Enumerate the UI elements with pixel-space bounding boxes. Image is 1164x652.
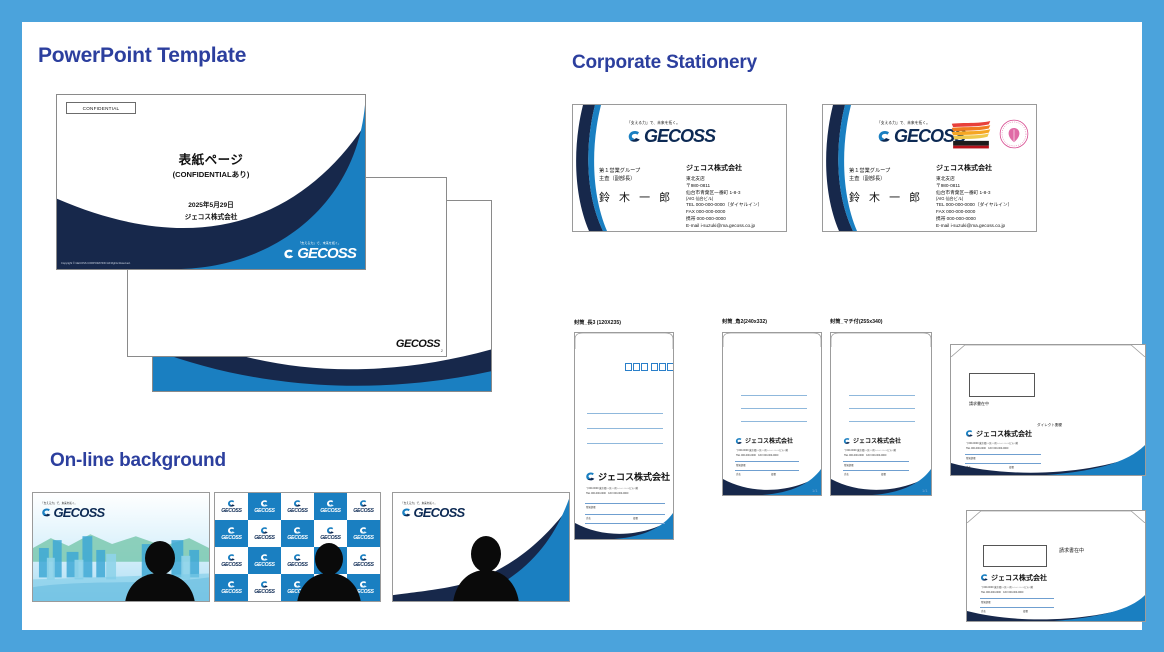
envelope-field-name: 氏名 xyxy=(844,472,849,476)
envelope-label-naga3: 封筒_長3 (120X235) xyxy=(574,319,621,326)
card-mobile: 携帯 000-000-0000 xyxy=(936,216,1012,223)
card-brand-logo: 「支える力」で、未来を拓く。 GECOSS xyxy=(627,121,715,145)
envelope-brand-logo: ジェコス株式会社 xyxy=(965,429,1032,438)
background-wave-white[interactable]: 「支える力」で、未来を拓く。 GECOSS xyxy=(392,492,570,602)
envelope-page-mark: 1/1 xyxy=(812,488,818,493)
envelope-label-machituki: 封筒_マチ付(255x340) xyxy=(830,318,882,325)
envelope-company: ジェコス株式会社 xyxy=(991,575,1047,582)
envelope-address-line1: 〒000-0000 東京都○○区○○町○-○-○ ○○○○ビル○階 xyxy=(844,449,896,453)
gecoss-swoosh-icon xyxy=(227,553,236,562)
logo-tile: GECOSS xyxy=(248,520,281,547)
brand-wordmark: GECOSS xyxy=(320,509,340,514)
slide-logo-wordmark: GECOSS xyxy=(396,338,440,350)
gecoss-swoosh-icon xyxy=(41,507,52,518)
envelope-field-post: 役職 xyxy=(1009,465,1014,469)
gecoss-swoosh-icon xyxy=(260,499,269,508)
envelope-address-line1: 〒000-0000 東京都○○区○○町○-○-○ ○○○○ビル○階 xyxy=(586,487,638,491)
nadeshiko-brand-badge xyxy=(999,119,1029,149)
envelope-invoice-note: 請求書在中 xyxy=(1059,547,1084,554)
envelope-folded-note: ダイレクト郵便 xyxy=(1037,423,1062,428)
brand-wordmark: GECOSS xyxy=(414,506,465,519)
gecoss-swoosh-icon xyxy=(401,507,412,518)
logo-tile: GECOSS xyxy=(215,574,248,601)
address-rule xyxy=(587,428,663,429)
envelope-flap xyxy=(723,333,821,347)
logo-tile: GECOSS xyxy=(215,493,248,520)
card-branch: 東北支店 xyxy=(936,176,1012,183)
gecoss-swoosh-icon xyxy=(980,573,989,582)
envelope-company: ジェコス株式会社 xyxy=(853,439,901,445)
brand-wordmark: GECOSS xyxy=(221,509,241,514)
envelope-address-line2: TEL 000-000-0000 FAX 000-000-0000 xyxy=(981,591,1023,595)
brand-mark: GECOSS xyxy=(401,506,464,519)
envelope-window-large[interactable]: 請求書在中 ダイレクト郵便 ジェコス株式会社 〒000-0000 東京都○○区○… xyxy=(950,344,1146,476)
brand-mark: GECOSS xyxy=(41,506,104,519)
certification-badges xyxy=(949,118,1029,150)
slide-company: ジェコス株式会社 xyxy=(57,211,365,221)
card-contact-block: ジェコス株式会社 東北支店 〒980-0811 仙台市青葉区一番町 1-8-3 … xyxy=(686,163,762,230)
address-rule xyxy=(587,443,663,444)
postal-code-boxes xyxy=(625,363,674,371)
person-silhouette xyxy=(121,541,199,602)
envelope-field-rule xyxy=(965,463,1041,464)
envelope-address-line1: 〒000-0000 東京都○○区○○町○-○-○ ○○○○ビル○階 xyxy=(736,449,788,453)
slide-title-block: 表紙ページ (CONFIDENTIALあり) xyxy=(57,149,365,180)
background-logo-tiles[interactable]: GECOSSGECOSSGECOSSGECOSSGECOSSGECOSSGECO… xyxy=(214,492,381,602)
gecoss-swoosh-icon xyxy=(227,580,236,589)
address-rule xyxy=(849,395,915,396)
card-fax: FAX 000-000-0000 xyxy=(686,209,762,216)
envelope-address-window xyxy=(969,373,1035,397)
gecoss-swoosh-icon xyxy=(326,499,335,508)
address-rule xyxy=(587,413,663,414)
person-silhouette xyxy=(293,543,365,602)
card-email: E-mail i-suzuki@ma.gecoss.co.jp xyxy=(686,223,762,230)
card-postcode: 〒980-0811 xyxy=(686,183,762,190)
envelope-field-dept: 所属部署 xyxy=(981,600,991,604)
envelope-flap xyxy=(967,511,1145,523)
envelope-brand-logo: ジェコス株式会社 xyxy=(843,437,901,445)
gecoss-swoosh-icon xyxy=(843,437,851,445)
card-postcode: 〒980-0811 xyxy=(936,183,1012,190)
envelope-field-rule xyxy=(735,461,799,462)
envelope-address-line2: TEL 000-000-0000 FAX 000-000-0000 xyxy=(586,492,628,496)
brand-wordmark: GECOSS xyxy=(221,536,241,541)
gecoss-swoosh-icon xyxy=(326,526,335,535)
envelope-address-window xyxy=(983,545,1047,567)
card-tel: TEL 000-000-0000（ダイヤルイン） xyxy=(686,202,762,209)
gecoss-swoosh-icon xyxy=(735,437,743,445)
gecoss-swoosh-icon xyxy=(359,526,368,535)
logo-tile: GECOSS xyxy=(281,493,314,520)
envelope-address-line2: TEL 000-000-0000 FAX 000-000-0000 xyxy=(844,454,886,458)
envelope-field-name: 氏名 xyxy=(586,516,591,520)
address-rule xyxy=(849,421,915,422)
brand-wordmark: GECOSS xyxy=(320,536,340,541)
business-card-plain[interactable]: 「支える力」で、未来を拓く。 GECOSS 第１営業グループ 主査（副部長） 鈴… xyxy=(572,104,787,232)
artboard: PowerPoint Template GECOSS 2 GECOSS 1 CO… xyxy=(22,22,1142,630)
envelope-field-name: 氏名 xyxy=(736,472,741,476)
gecoss-swoosh-icon xyxy=(293,499,302,508)
gecoss-swoosh-icon xyxy=(627,129,642,144)
slide-title-page[interactable]: CONFIDENTIAL 表紙ページ (CONFIDENTIALあり) 2025… xyxy=(56,94,366,270)
gecoss-swoosh-icon xyxy=(877,129,892,144)
section-title-powerpoint: PowerPoint Template xyxy=(38,44,246,68)
envelope-naga3[interactable]: ジェコス株式会社 〒000-0000 東京都○○区○○町○-○-○ ○○○○ビル… xyxy=(574,332,674,540)
card-fax: FAX 000-000-0000 xyxy=(936,209,1012,216)
card-branch: 東北支店 xyxy=(686,176,762,183)
brand-wordmark: GECOSS xyxy=(254,536,274,541)
envelope-brand-logo: ジェコス株式会社 xyxy=(585,471,670,482)
envelope-company: ジェコス株式会社 xyxy=(598,473,670,482)
envelope-label-kaku2: 封筒_角2(240x332) xyxy=(722,318,767,325)
envelope-field-name: 氏名 xyxy=(981,609,986,613)
page-frame: PowerPoint Template GECOSS 2 GECOSS 1 CO… xyxy=(0,0,1164,652)
person-silhouette xyxy=(449,535,523,602)
envelope-field-rule xyxy=(843,470,909,471)
section-title-online: On-line background xyxy=(50,450,226,472)
envelope-flap xyxy=(831,333,931,347)
card-department-line1: 第１営業グループ xyxy=(599,167,673,175)
slide-date: 2025年5月29日 xyxy=(57,199,365,209)
logo-tile: GECOSS xyxy=(314,493,347,520)
envelope-kaku2[interactable]: ジェコス株式会社 〒000-0000 東京都○○区○○町○-○-○ ○○○○ビル… xyxy=(722,332,822,496)
brand-mark: GECOSS xyxy=(283,246,356,261)
envelope-page-mark: 1/1 xyxy=(922,488,928,493)
brand-wordmark: GECOSS xyxy=(644,127,715,145)
logo-tile: GECOSS xyxy=(248,547,281,574)
envelope-field-rule xyxy=(965,454,1041,455)
envelope-company: ジェコス株式会社 xyxy=(745,439,793,445)
card-company: ジェコス株式会社 xyxy=(686,163,762,173)
envelope-address-line2: TEL 000-000-0000 FAX 000-000-0000 xyxy=(736,454,778,458)
gecoss-swoosh-icon xyxy=(283,248,295,260)
logo-tile: GECOSS xyxy=(248,493,281,520)
brand-wordmark: GECOSS xyxy=(353,536,373,541)
address-rule xyxy=(741,408,807,409)
brand-wordmark: GECOSS xyxy=(254,509,274,514)
slide-copyright: Copyright © GECOSS CORPORATION All Right… xyxy=(61,262,130,265)
envelope-field-dept: 所属部署 xyxy=(736,463,746,467)
brand-wordmark: GECOSS xyxy=(54,506,105,519)
slide-brand-logo: 「支える力」で、未来を拓く。 GECOSS xyxy=(283,240,356,261)
card-person-name: 鈴 木 一 郎 xyxy=(849,189,923,205)
envelope-field-rule xyxy=(585,514,665,515)
envelope-field-post: 役職 xyxy=(771,472,776,476)
envelope-field-rule xyxy=(843,461,909,462)
envelope-field-post: 役職 xyxy=(1023,609,1028,613)
envelope-field-rule xyxy=(735,470,799,471)
address-rule xyxy=(849,408,915,409)
envelope-flap xyxy=(951,345,1145,357)
envelope-field-rule xyxy=(585,503,665,504)
brand-wordmark: GECOSS xyxy=(353,509,373,514)
envelope-field-dept: 所属部署 xyxy=(586,505,596,509)
envelope-address-line1: 〒000-0000 東京都○○区○○町○-○-○ ○○○○ビル○階 xyxy=(966,442,1018,446)
card-mobile: 携帯 000-000-0000 xyxy=(686,216,762,223)
brand-wordmark: GECOSS xyxy=(287,509,307,514)
envelope-field-rule xyxy=(980,607,1054,608)
brand-wordmark: GECOSS xyxy=(254,590,274,595)
gecoss-swoosh-icon xyxy=(359,499,368,508)
brand-wordmark: GECOSS xyxy=(254,563,274,568)
envelope-flap xyxy=(575,333,673,349)
envelope-company: ジェコス株式会社 xyxy=(976,431,1032,438)
card-contact-block: ジェコス株式会社 東北支店 〒980-0811 仙台市青葉区一番町 1-8-3 … xyxy=(936,163,1012,230)
envelope-field-name: 氏名 xyxy=(966,465,971,469)
kenko-keiei-yuryo-houjin-badge xyxy=(949,118,993,150)
envelope-field-rule xyxy=(980,598,1054,599)
address-rule xyxy=(741,395,807,396)
card-department-line2: 主査（副部長） xyxy=(599,175,673,183)
envelope-field-rule xyxy=(585,523,665,524)
brand-wordmark: GECOSS xyxy=(297,246,356,261)
slide-title-line2: (CONFIDENTIALあり) xyxy=(57,169,365,180)
envelope-field-dept: 所属部署 xyxy=(844,463,854,467)
gecoss-swoosh-icon xyxy=(585,471,596,482)
brand-mark: GECOSS xyxy=(627,127,715,145)
logo-tile: GECOSS xyxy=(347,493,380,520)
address-rule xyxy=(741,421,807,422)
envelope-field-post: 役職 xyxy=(633,516,638,520)
gecoss-swoosh-icon xyxy=(227,499,236,508)
gecoss-swoosh-icon xyxy=(965,429,974,438)
card-person-block: 第１営業グループ 主査（副部長） 鈴 木 一 郎 xyxy=(599,167,673,205)
card-tel: TEL 000-000-0000（ダイヤルイン） xyxy=(936,202,1012,209)
card-email: E-mail i-suzuki@ma.gecoss.co.jp xyxy=(936,223,1012,230)
envelope-brand-logo: ジェコス株式会社 xyxy=(980,573,1047,582)
envelope-field-post: 役職 xyxy=(881,472,886,476)
brand-wordmark: GECOSS xyxy=(221,563,241,568)
card-department-line2: 主査（副部長） xyxy=(849,175,923,183)
slide-page-number: 2 xyxy=(441,348,443,353)
envelope-window-small[interactable]: 請求書在中 ジェコス株式会社 〒000-0000 東京都○○区○○町○-○-○ … xyxy=(966,510,1146,622)
background-brand-logo: 「支える力」で、未来を拓く。 GECOSS xyxy=(41,501,104,519)
gecoss-swoosh-icon xyxy=(260,580,269,589)
brand-wordmark: GECOSS xyxy=(287,536,307,541)
gecoss-swoosh-icon xyxy=(260,553,269,562)
logo-tile: GECOSS xyxy=(248,574,281,601)
gecoss-swoosh-icon xyxy=(227,526,236,535)
envelope-brand-logo: ジェコス株式会社 xyxy=(735,437,793,445)
logo-tile: GECOSS xyxy=(215,520,248,547)
gecoss-swoosh-icon xyxy=(293,526,302,535)
gecoss-swoosh-icon xyxy=(260,526,269,535)
confidential-badge: CONFIDENTIAL xyxy=(66,102,136,114)
card-person-block: 第１営業グループ 主査（副部長） 鈴 木 一 郎 xyxy=(849,167,923,205)
card-department-line1: 第１営業グループ xyxy=(849,167,923,175)
envelope-machituki[interactable]: ジェコス株式会社 〒000-0000 東京都○○区○○町○-○-○ ○○○○ビル… xyxy=(830,332,932,496)
slide-subtitle-block: 2025年5月29日 ジェコス株式会社 xyxy=(57,199,365,221)
background-brand-logo: 「支える力」で、未来を拓く。 GECOSS xyxy=(401,501,464,519)
section-title-corporate: Corporate Stationery xyxy=(572,52,757,74)
background-cityscape[interactable]: 「支える力」で、未来を拓く。 GECOSS xyxy=(32,492,210,602)
envelope-address-line1: 〒000-0000 東京都○○区○○町○-○-○ ○○○○ビル○階 xyxy=(981,586,1033,590)
envelope-address-line2: TEL 000-000-0000 FAX 000-000-0000 xyxy=(966,447,1008,451)
card-company: ジェコス株式会社 xyxy=(936,163,1012,173)
envelope-field-dept: 所属部署 xyxy=(966,456,976,460)
card-person-name: 鈴 木 一 郎 xyxy=(599,189,673,205)
brand-wordmark: GECOSS xyxy=(221,590,241,595)
slide-title-line1: 表紙ページ xyxy=(57,149,365,168)
envelope-invoice-note: 請求書在中 xyxy=(969,401,989,407)
business-card-with-badges[interactable]: 「支える力」で、未来を拓く。 GECOSS xyxy=(822,104,1037,232)
logo-tile: GECOSS xyxy=(215,547,248,574)
